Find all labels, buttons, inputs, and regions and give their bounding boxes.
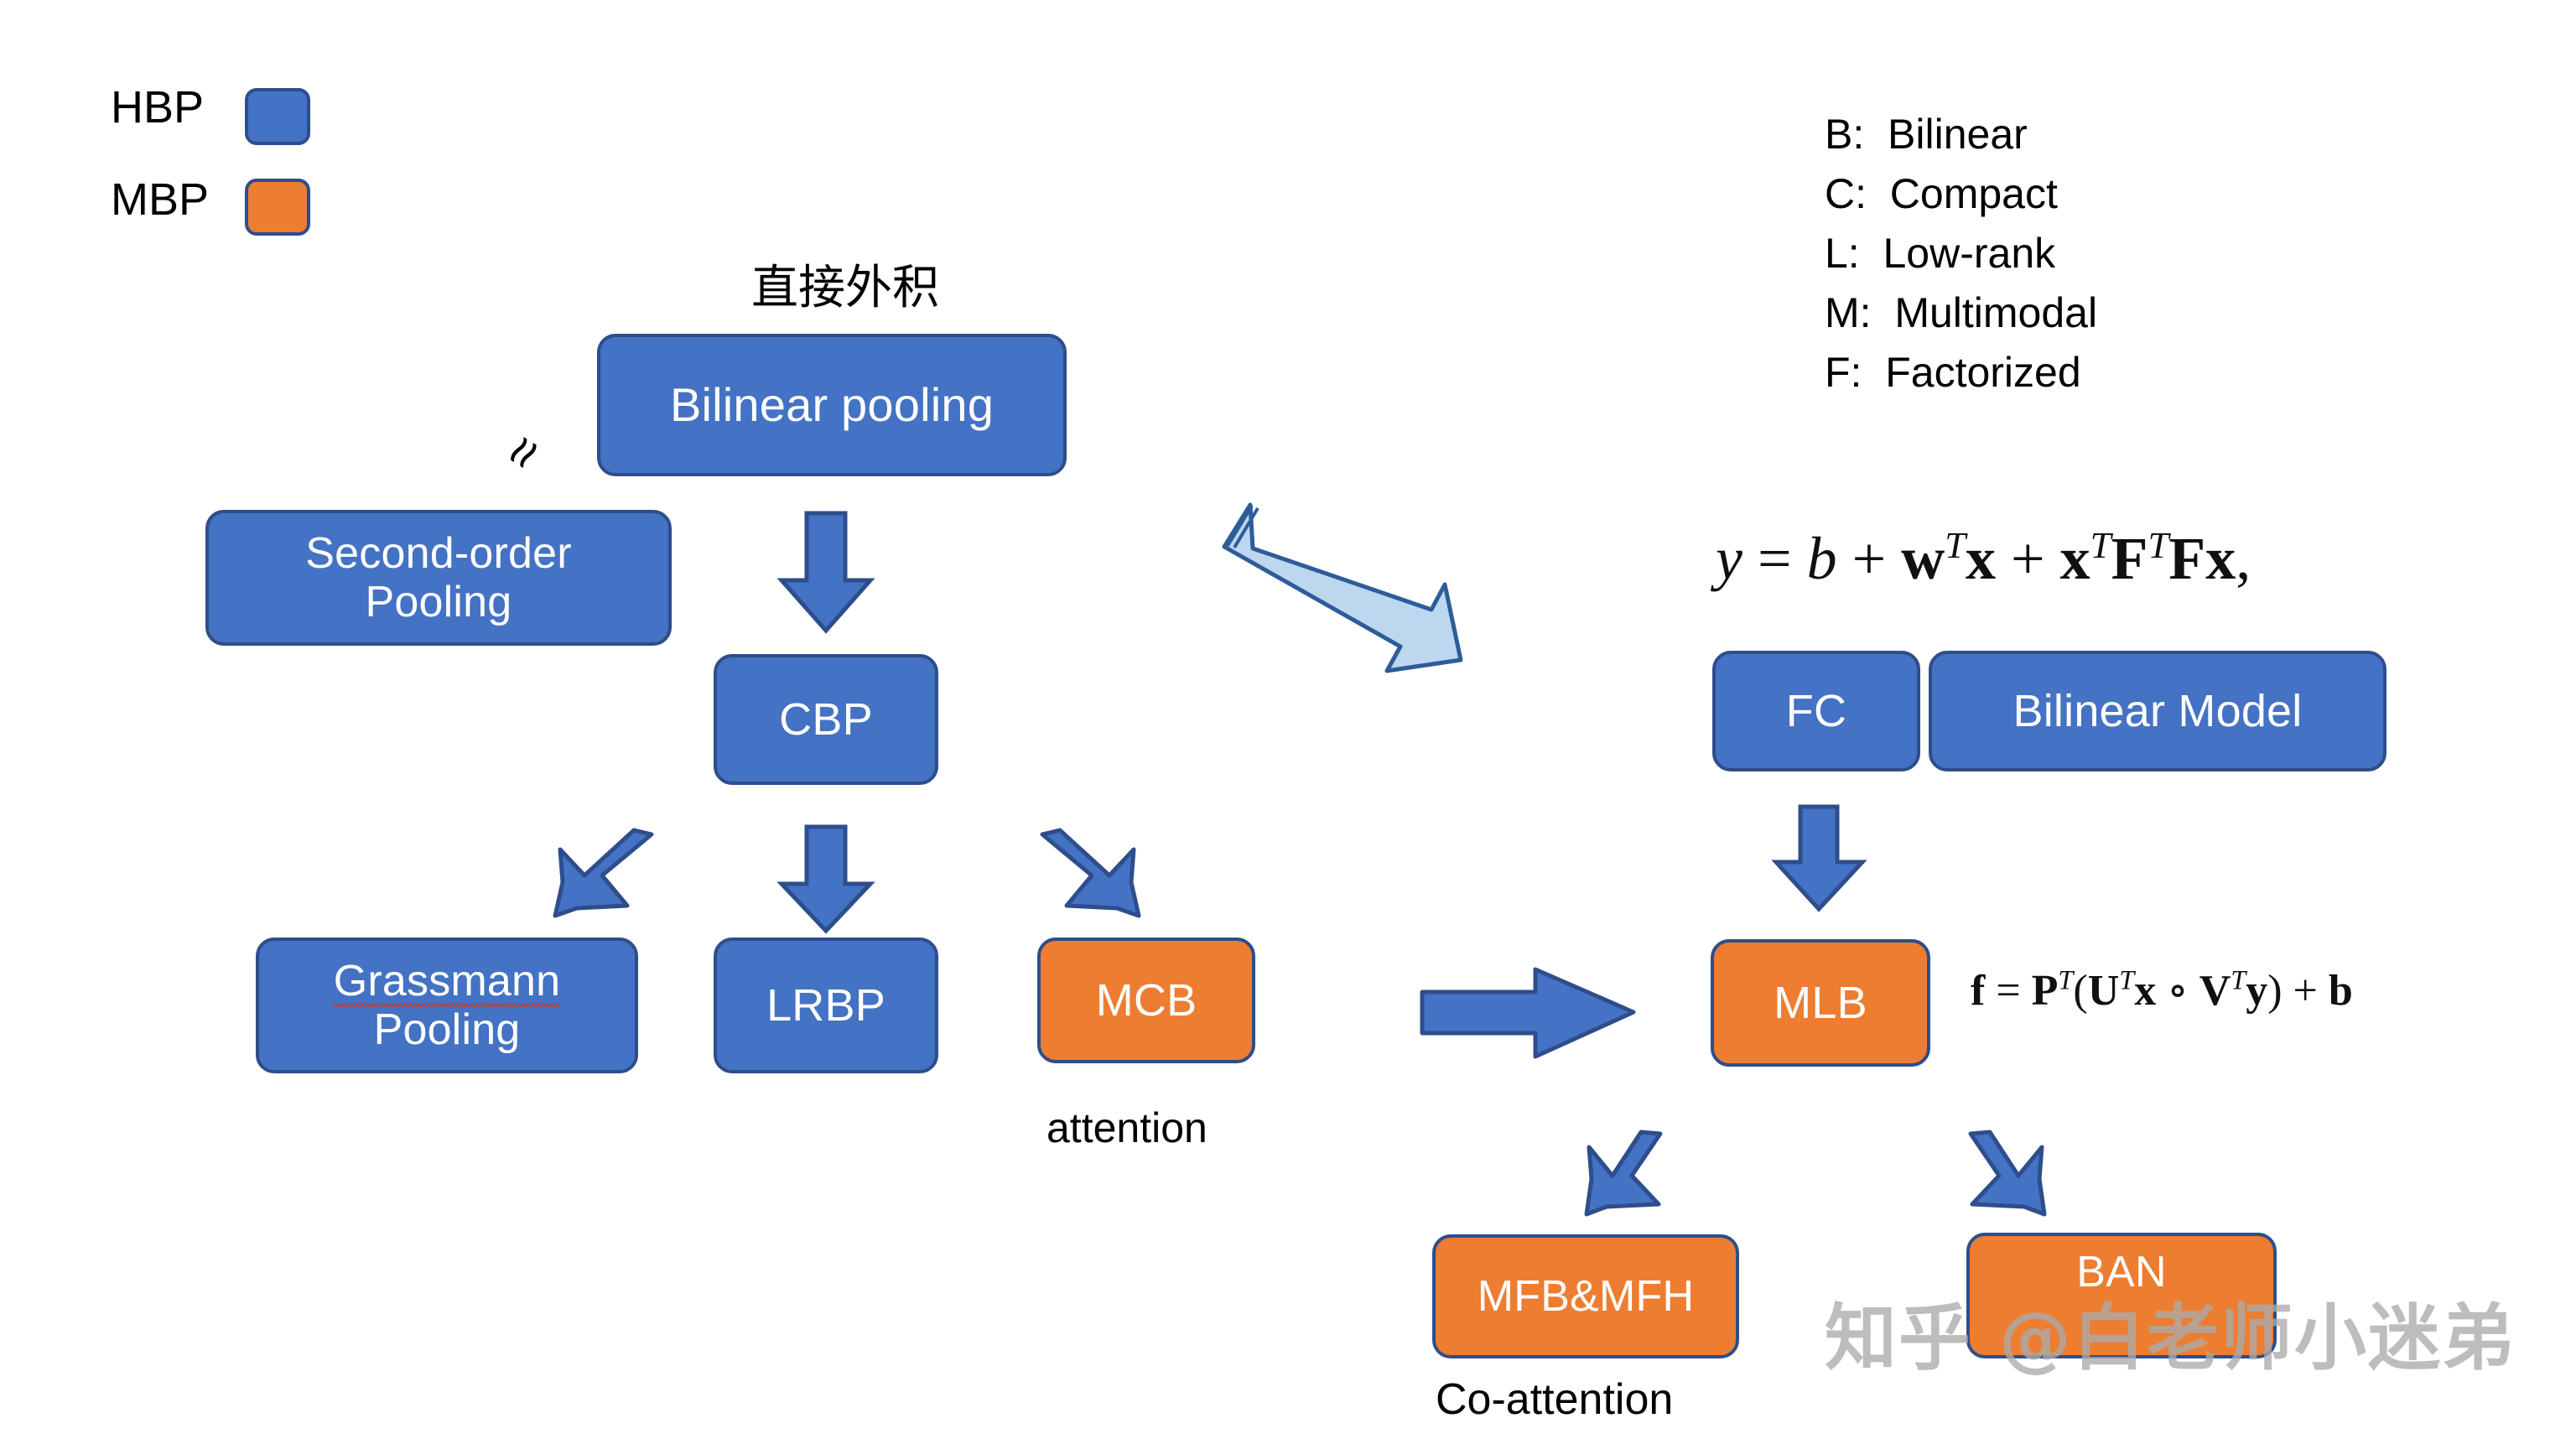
node-mlb[interactable]: MLB [1711,939,1930,1067]
arrow-down-left-mlb-to-mfb [1578,1124,1687,1224]
arrow-down-fc-to-mlb [1771,803,1868,912]
node-mcb[interactable]: MCB [1037,938,1255,1063]
abbrev-line-l: L: Low-rank [1825,228,2055,279]
mbp-swatch [245,179,310,236]
abbrev-line-c: C: Compact [1825,169,2058,220]
attention-label: attention [1046,1103,1207,1154]
arrow-down-right-cbp-to-mcb [1030,822,1147,922]
watermark: 知乎 @白老师小迷弟 [1825,1279,2516,1384]
direct-outer-product-label: 直接外积 [751,260,939,317]
arrow-down-left-cbp-to-grassmann [547,822,664,922]
approx-symbol: ≈ [487,422,558,481]
abbrev-line-m: M: Multimodal [1825,288,2097,339]
node-cbp[interactable]: CBP [714,654,938,785]
node-bilinear-pooling[interactable]: Bilinear pooling [597,334,1067,476]
formula-mlb: f = PT(UTx ∘ VTy) + b [1971,965,2353,1015]
co-attention-label: Co-attention [1436,1374,1673,1426]
arrow-down-right-mlb-to-ban [1944,1124,2053,1224]
node-bilinear-model-box[interactable]: Bilinear Model [1929,651,2386,771]
node-lrbp[interactable]: LRBP [714,938,938,1073]
abbrev-line-b: B: Bilinear [1825,109,2028,160]
legend-label-mbp: MBP [111,173,209,228]
node-fc[interactable]: FC [1712,651,1920,771]
arrow-down-cbp-to-lrbp [776,823,876,934]
node-second-order-pooling[interactable]: Second-order Pooling [205,510,672,646]
arrow-diagonal-transition [1218,480,1553,698]
diagram-canvas: HBP MBP B: Bilinear C: Compact L: Low-ra… [0,0,2576,1444]
abbrev-line-f: F: Factorized [1825,347,2081,398]
arrow-down-bilinear-to-cbp [776,510,876,634]
arrow-right-mcb-to-mlb [1419,964,1639,1062]
node-grassmann-pooling-line1: Grassmann [334,957,561,1005]
node-grassmann-pooling-line2: Pooling [374,1005,521,1054]
legend-label-hbp: HBP [111,81,204,136]
formula-bilinear-model: y = b + wTx + xTFTFx, [1716,524,2251,594]
node-mfb-mfh[interactable]: MFB&MFH [1432,1234,1739,1358]
hbp-swatch [245,88,310,145]
node-grassmann-pooling[interactable]: Grassmann Pooling [256,938,638,1073]
